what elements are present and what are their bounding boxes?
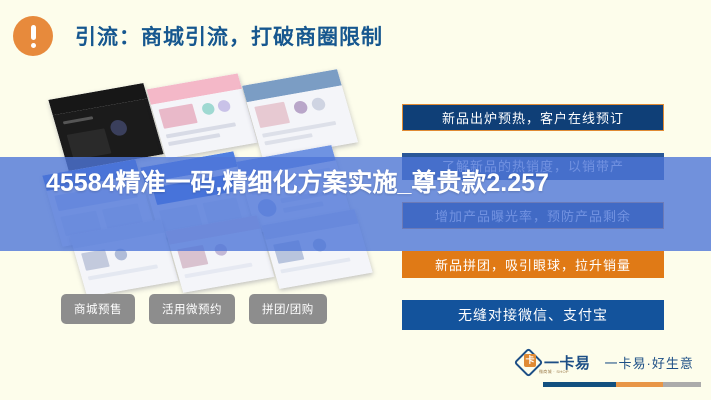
footer-bar-segment-orange — [616, 382, 663, 387]
feature-pill-groupbuy[interactable]: 拼团/团购 — [249, 294, 327, 324]
logo-slogan: 一卡易·好生意 — [605, 353, 694, 372]
feature-pill-presale[interactable]: 商城预售 — [61, 294, 135, 324]
collage-card — [147, 73, 258, 158]
exclamation-circle-icon — [13, 16, 53, 56]
feature-pill-group: 商城预售 活用微预约 拼团/团购 — [61, 294, 327, 324]
logo-badge: 卡 — [524, 354, 536, 367]
brand-logo: 卡 一卡易 微商城 · SHOP 一卡易·好生意 — [516, 350, 694, 374]
overlay-title: 45584精准一码,精细化方案实施_尊贵款2.257 — [0, 157, 711, 251]
footer-color-bar — [543, 382, 701, 387]
collage-card — [242, 69, 358, 159]
promo-banner: 引流：商城引流，打破商圈限制 — [0, 0, 711, 400]
callout-item: 新品出炉预热，客户在线预订 — [402, 104, 664, 131]
page-title: 引流：商城引流，打破商圈限制 — [75, 21, 383, 51]
callout-item: 新品拼团，吸引眼球，拉升销量 — [402, 251, 664, 278]
logo-subtitle: 微商城 · SHOP — [539, 369, 569, 375]
header: 引流：商城引流，打破商圈限制 — [0, 0, 711, 72]
footer-bar-segment-navy — [543, 382, 616, 387]
callout-item: 无缝对接微信、支付宝 — [402, 300, 664, 330]
feature-pill-appointment[interactable]: 活用微预约 — [149, 294, 235, 324]
footer-bar-segment-gray — [663, 382, 701, 387]
